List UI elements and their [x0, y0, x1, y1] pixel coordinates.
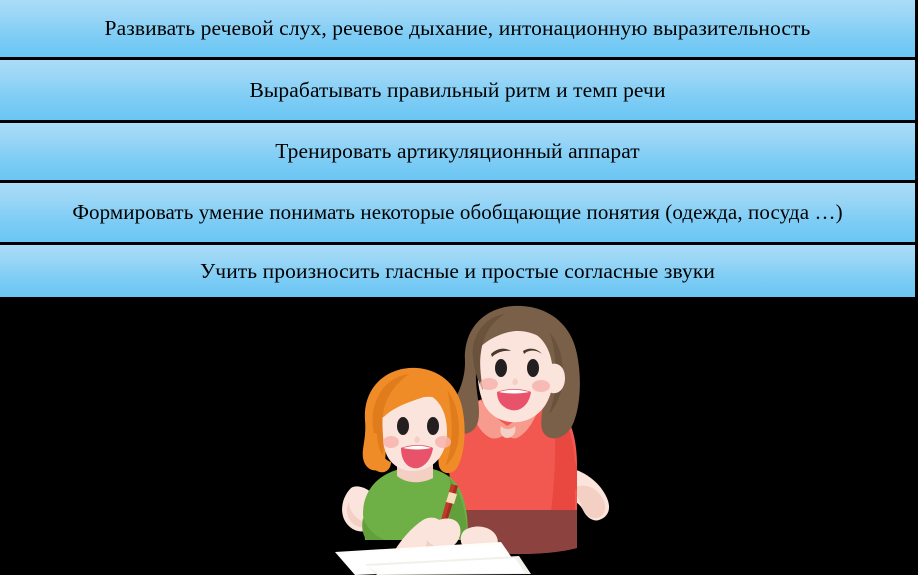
banner-label: Формировать умение понимать некоторые об…	[72, 201, 842, 223]
banner-list: Развивать речевой слух, речевое дыхание,…	[0, 0, 918, 300]
banner-item[interactable]: Формировать умение понимать некоторые об…	[0, 183, 918, 245]
slide-canvas: Развивать речевой слух, речевое дыхание,…	[0, 0, 918, 575]
child-cheek-right	[435, 436, 451, 448]
child-eye-right	[427, 417, 439, 435]
paper	[335, 542, 531, 575]
mother-eye-left	[495, 359, 507, 377]
mother-and-child-writing-illustration	[305, 302, 620, 575]
banner-label: Учить произносить гласные и простые согл…	[200, 260, 715, 283]
banner-label: Тренировать артикуляционный аппарат	[275, 140, 640, 163]
banner-item[interactable]: Учить произносить гласные и простые согл…	[0, 245, 918, 300]
banner-item[interactable]: Вырабатывать правильный ритм и темп речи	[0, 60, 918, 123]
mother-cheek-right	[532, 380, 550, 392]
banner-item[interactable]: Развивать речевой слух, речевое дыхание,…	[0, 0, 918, 60]
mother-cheek-left	[480, 378, 498, 390]
banner-label: Вырабатывать правильный ритм и темп речи	[249, 79, 665, 102]
banner-item[interactable]: Тренировать артикуляционный аппарат	[0, 123, 918, 183]
banner-label: Развивать речевой слух, речевое дыхание,…	[105, 17, 811, 40]
mother-eye-right	[527, 359, 539, 377]
child-cheek-left	[383, 436, 399, 448]
child-eye-left	[397, 417, 409, 435]
